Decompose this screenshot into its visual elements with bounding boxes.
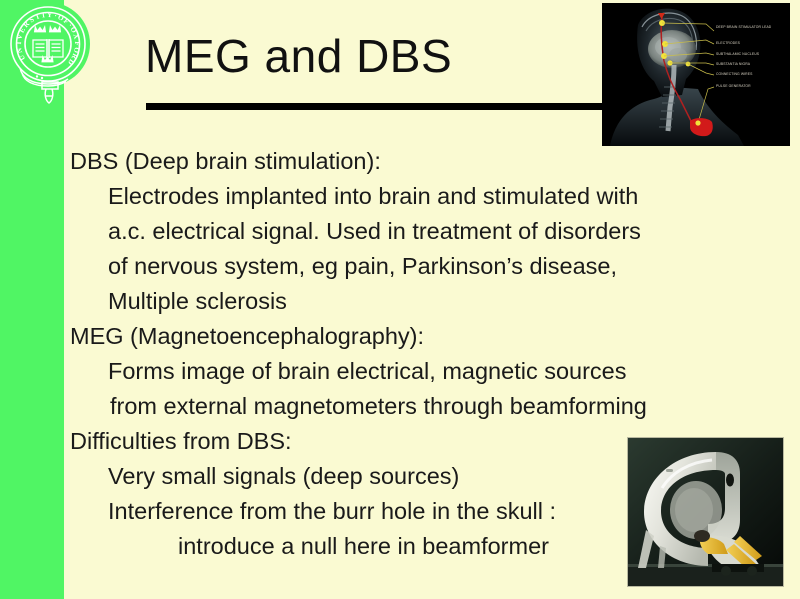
dbs-label-5: PULSE GENERATOR — [716, 84, 751, 89]
svg-text:S: S — [28, 16, 36, 25]
dbs-label-4: CONNECTING WIRES — [716, 72, 752, 77]
dbs-label-2: SUBTHALAMIC NUCLEUS — [716, 52, 759, 57]
svg-text:F: F — [73, 41, 81, 46]
body-line-7: from external magnetometers through beam… — [110, 389, 730, 424]
body-line-3: of nervous system, eg pain, Parkinson’s … — [108, 249, 730, 284]
body-line-4: Multiple sclerosis — [108, 284, 730, 319]
body-line-0: DBS (Deep brain stimulation): — [70, 144, 730, 179]
meg-scanner-image — [627, 437, 784, 587]
dbs-label-3: SUBSTANTIA NIGRA — [716, 62, 750, 67]
body-line-6: Forms image of brain electrical, magneti… — [108, 354, 730, 389]
oxford-crest-logo: U N I V E R S I T Y · O F · O X F O R D — [6, 2, 96, 107]
svg-text:Y: Y — [47, 11, 53, 19]
svg-text:I: I — [15, 41, 23, 44]
dbs-label-0: DEEP BRAIN STIMULATOR LEAD — [716, 25, 771, 30]
slide-canvas: U N I V E R S I T Y · O F · O X F O R D — [0, 0, 800, 599]
body-line-5: MEG (Magnetoencephalography): — [70, 319, 730, 354]
crest-icon: U N I V E R S I T Y · O F · O X F O R D — [6, 2, 96, 110]
dbs-label-1: ELECTRODES — [716, 41, 740, 46]
slide-title: MEG and DBS — [145, 30, 452, 82]
body-line-1: Electrodes implanted into brain and stim… — [108, 179, 730, 214]
dbs-anatomy-image: DEEP BRAIN STIMULATOR LEAD ELECTRODES SU… — [602, 3, 790, 146]
body-line-2: a.c. electrical signal. Used in treatmen… — [108, 214, 730, 249]
